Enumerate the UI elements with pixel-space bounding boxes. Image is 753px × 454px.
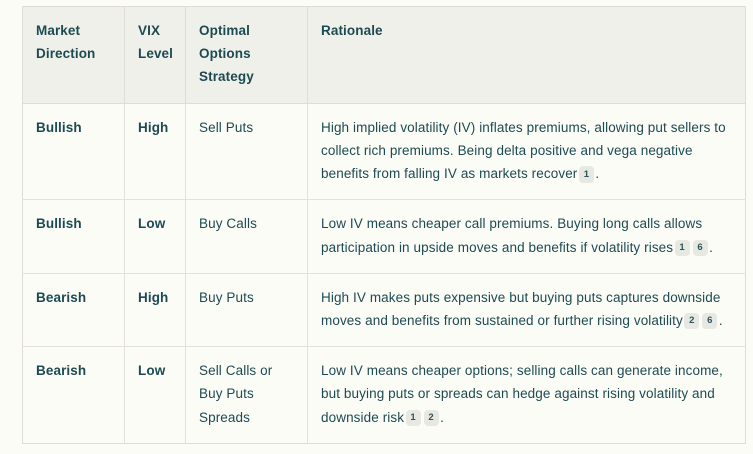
cell-options-strategy: Buy Calls [186,200,308,273]
citation-badge[interactable]: 6 [702,313,717,330]
cell-market-direction: Bullish [23,103,125,200]
cell-rationale: Low IV means cheaper call premiums. Buyi… [308,200,746,273]
rationale-trailing-punctuation: . [595,166,599,181]
cell-rationale: High IV makes puts expensive but buying … [308,273,746,346]
column-header-rationale: Rationale [308,7,746,104]
table-row: Bearish Low Sell Calls or Buy Puts Sprea… [23,347,746,444]
citation-badge[interactable]: 6 [693,240,708,257]
cell-market-direction: Bearish [23,273,125,346]
column-header-optimal-options-strategy: Optimal Options Strategy [186,7,308,104]
cell-vix-level: High [125,273,186,346]
table-row: Bullish High Sell Puts High implied vola… [23,103,746,200]
cell-vix-level: Low [125,347,186,444]
cell-rationale: High implied volatility (IV) inflates pr… [308,103,746,200]
rationale-text: Low IV means cheaper call premiums. Buyi… [321,216,702,254]
citation-badge[interactable]: 2 [684,313,699,330]
table-row: Bullish Low Buy Calls Low IV means cheap… [23,200,746,273]
rationale-text: Low IV means cheaper options; selling ca… [321,363,723,424]
cell-options-strategy: Buy Puts [186,273,308,346]
cell-vix-level: High [125,103,186,200]
citation-badge[interactable]: 1 [406,410,421,427]
column-header-vix-level: VIX Level [125,7,186,104]
citation-badge[interactable]: 1 [675,240,690,257]
cell-options-strategy: Sell Puts [186,103,308,200]
column-header-market-direction: Market Direction [23,7,125,104]
rationale-trailing-punctuation: . [440,410,444,425]
cell-market-direction: Bullish [23,200,125,273]
rationale-trailing-punctuation: . [719,313,723,328]
table-header: Market Direction VIX Level Optimal Optio… [23,7,746,104]
strategy-table-container: Market Direction VIX Level Optimal Optio… [0,0,753,454]
cell-options-strategy: Sell Calls or Buy Puts Spreads [186,347,308,444]
cell-rationale: Low IV means cheaper options; selling ca… [308,347,746,444]
rationale-text: High IV makes puts expensive but buying … [321,290,720,328]
cell-market-direction: Bearish [23,347,125,444]
citation-badge[interactable]: 2 [424,410,439,427]
rationale-text: High implied volatility (IV) inflates pr… [321,120,726,181]
options-strategy-table: Market Direction VIX Level Optimal Optio… [22,6,746,444]
table-row: Bearish High Buy Puts High IV makes puts… [23,273,746,346]
table-body: Bullish High Sell Puts High implied vola… [23,103,746,443]
rationale-trailing-punctuation: . [709,240,713,255]
table-header-row: Market Direction VIX Level Optimal Optio… [23,7,746,104]
citation-badge[interactable]: 1 [579,166,594,183]
cell-vix-level: Low [125,200,186,273]
